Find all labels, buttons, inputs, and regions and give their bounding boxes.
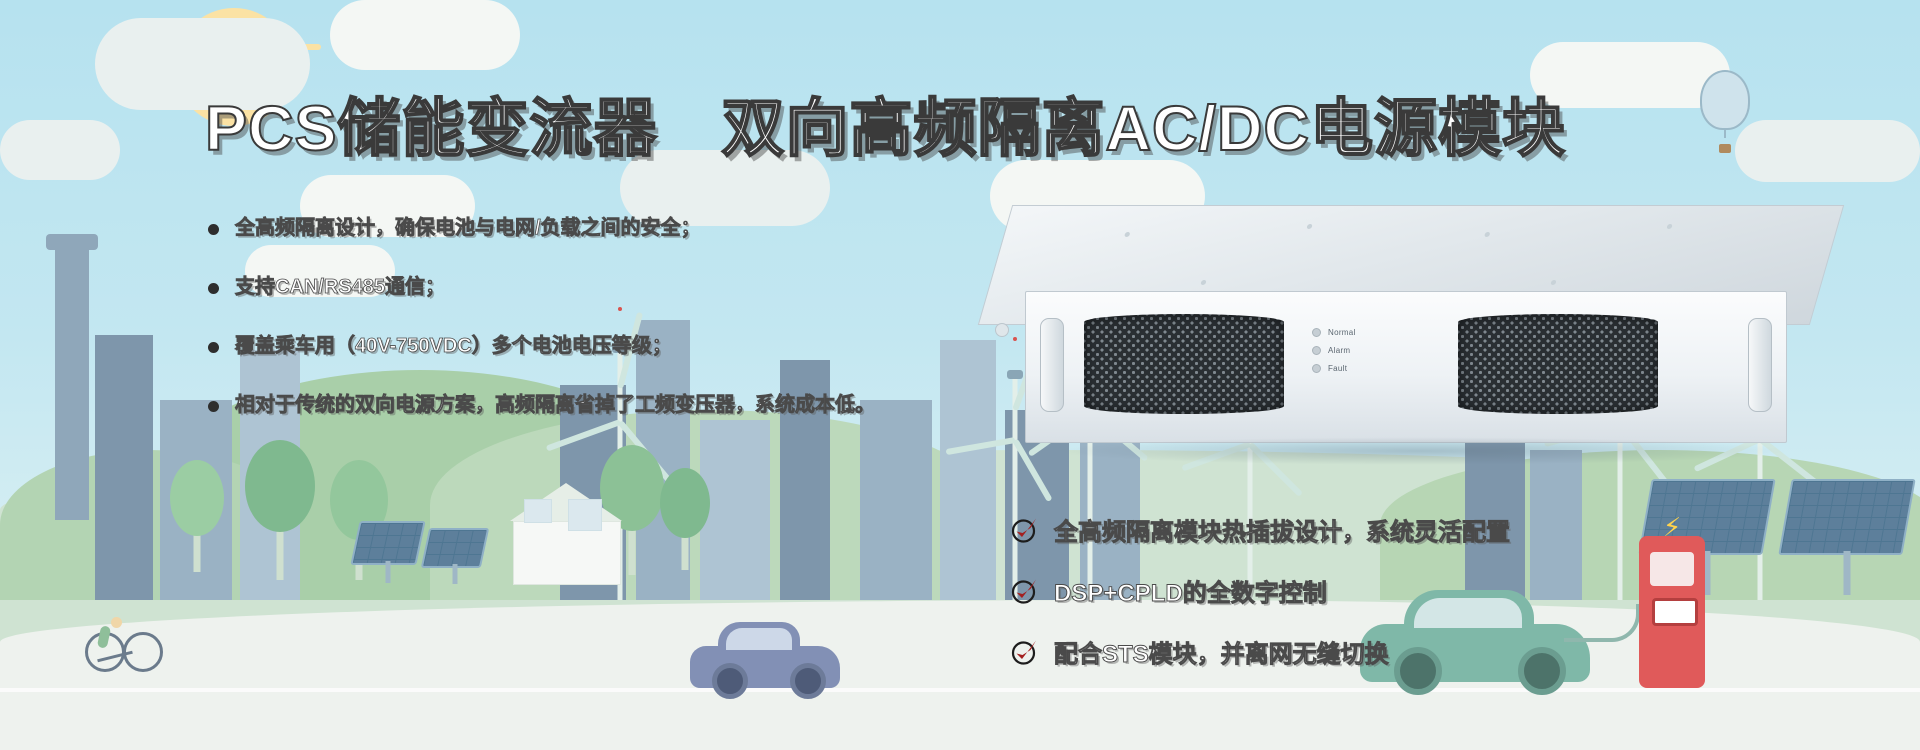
bullet-dot-icon — [208, 401, 219, 412]
feature-bullet-list: 全高频隔离设计，确保电池与电网/负载之间的安全； 支持CAN/RS485通信； … — [208, 215, 888, 451]
tree-shape — [170, 452, 224, 572]
highlight-check-list: 全高频隔离模块热插拔设计，系统灵活配置 DSP+CPLD的全数字控制 配合STS… — [1010, 512, 1510, 695]
product-device-image: Normal Alarm Fault — [955, 205, 1845, 505]
list-item: 配合STS模块，并离网无缝切换 — [1010, 634, 1510, 669]
cloud-shape — [0, 120, 120, 180]
bullet-text: 支持CAN/RS485通信； — [235, 274, 445, 301]
list-item: DSP+CPLD的全数字控制 — [1010, 573, 1510, 608]
bullet-text: 全高频隔离设计，确保电池与电网/负载之间的安全； — [235, 215, 701, 242]
check-circle-icon — [1010, 515, 1040, 545]
device-front-panel: Normal Alarm Fault — [1025, 291, 1787, 443]
led-indicator-normal: Normal — [1312, 328, 1356, 337]
bullet-text: 相对于传统的双向电源方案，高频隔离省掉了工频变压器，系统成本低。 — [235, 392, 875, 419]
led-dot-icon — [1312, 328, 1321, 337]
lightning-bolt-icon: ⚡ — [1663, 512, 1681, 543]
page-title: PCS储能变流器 双向高频隔离AC/DC电源模块 — [205, 78, 1566, 169]
cloud-shape — [330, 0, 520, 70]
device-screw — [995, 323, 1009, 337]
ev-charger-icon: ⚡ — [1639, 536, 1705, 688]
status-led-row: Normal Alarm Fault — [1312, 328, 1356, 382]
led-indicator-alarm: Alarm — [1312, 346, 1356, 355]
bullet-text: 覆盖乘车用（40V-750VDC）多个电池电压等级； — [235, 333, 672, 360]
list-item: 全高频隔离模块热插拔设计，系统灵活配置 — [1010, 512, 1510, 547]
bullet-dot-icon — [208, 342, 219, 353]
device-shadow — [1050, 437, 1790, 465]
promo-banner: ⚡ Normal Alarm — [0, 0, 1920, 750]
device-handle-left — [1040, 318, 1064, 412]
check-text: DSP+CPLD的全数字控制 — [1054, 573, 1327, 608]
road-center-line — [0, 688, 1920, 692]
bullet-dot-icon — [208, 224, 219, 235]
house-shape — [510, 483, 624, 585]
led-label: Alarm — [1328, 346, 1350, 355]
tree-shape — [245, 430, 315, 580]
chimney-shape — [55, 240, 89, 520]
led-dot-icon — [1312, 346, 1321, 355]
car-icon — [690, 646, 840, 688]
list-item: 相对于传统的双向电源方案，高频隔离省掉了工频变压器，系统成本低。 — [208, 392, 888, 419]
ventilation-grille — [1084, 314, 1284, 414]
cloud-shape — [1735, 120, 1920, 182]
charging-cable — [1564, 604, 1640, 642]
ventilation-grille — [1458, 314, 1658, 414]
solar-panel-icon — [355, 521, 421, 565]
bullet-dot-icon — [208, 283, 219, 294]
list-item: 覆盖乘车用（40V-750VDC）多个电池电压等级； — [208, 333, 888, 360]
chimney-cap — [46, 234, 98, 250]
check-circle-icon — [1010, 637, 1040, 667]
led-label: Normal — [1328, 328, 1356, 337]
building-shape — [95, 335, 153, 600]
led-dot-icon — [1312, 364, 1321, 373]
led-indicator-fault: Fault — [1312, 364, 1356, 373]
list-item: 支持CAN/RS485通信； — [208, 274, 888, 301]
tree-shape — [660, 460, 710, 570]
list-item: 全高频隔离设计，确保电池与电网/负载之间的安全； — [208, 215, 888, 242]
hot-air-balloon-icon — [1700, 70, 1750, 153]
check-text: 配合STS模块，并离网无缝切换 — [1054, 634, 1389, 669]
solar-panel-icon — [425, 528, 485, 568]
device-handle-right — [1748, 318, 1772, 412]
check-circle-icon — [1010, 576, 1040, 606]
led-label: Fault — [1328, 364, 1347, 373]
check-text: 全高频隔离模块热插拔设计，系统灵活配置 — [1054, 512, 1510, 547]
